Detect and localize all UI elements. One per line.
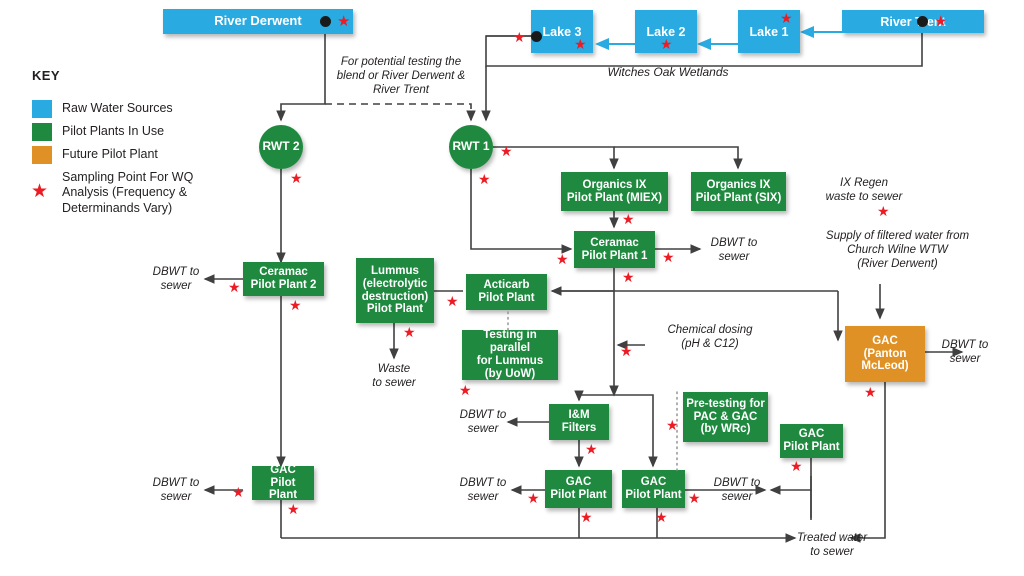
sampling-star-river-trent: ★ — [934, 14, 947, 29]
sampling-star-acticarb-out: ★ — [446, 294, 459, 308]
sampling-star-ceramac2-down: ★ — [289, 298, 302, 312]
sampling-star-river-derwent: ★ — [337, 14, 350, 29]
annotation-chemical-dosing: Chemical dosing (pH & C12) — [650, 323, 770, 351]
node-gac-pilot-plant-right[interactable]: GAC Pilot Plant — [780, 424, 843, 458]
node-organics-ix-six[interactable]: Organics IX Pilot Plant (SIX) — [691, 172, 786, 211]
legend-swatch-raw-water — [32, 100, 52, 118]
node-gac-pilot-plant-mid-left-label: GAC Pilot Plant — [547, 476, 609, 502]
sampling-star-gac-midright-down: ★ — [655, 510, 668, 524]
legend-title: KEY — [32, 68, 60, 83]
node-gac-panton-mcleod[interactable]: GAC (Panton McLeod) — [845, 326, 925, 382]
annotation-dbwt-gac-left: DBWT to sewer — [145, 476, 207, 504]
sampling-star-rwt-1-right: ★ — [500, 144, 513, 158]
node-gac-pilot-plant-mid-right-label: GAC Pilot Plant — [622, 476, 684, 502]
node-rwt-2-label: RWT 2 — [259, 140, 302, 153]
node-ceramac-pilot-plant-2-label: Ceramac Pilot Plant 2 — [248, 266, 320, 292]
annotation-church-wilne-supply: Supply of filtered water from Church Wil… — [810, 229, 985, 271]
sampling-star-testing-lummus: ★ — [459, 383, 472, 397]
annotation-dbwt-gac-mid-right: DBWT to sewer — [706, 476, 768, 504]
node-gac-panton-mcleod-label: GAC (Panton McLeod) — [858, 335, 911, 374]
node-acticarb-pilot-plant-label: Acticarb Pilot Plant — [475, 279, 537, 305]
sampling-star-gac-midright-out: ★ — [688, 491, 701, 505]
sampling-star-ceramac1-in: ★ — [556, 252, 569, 266]
tap-point-river-derwent — [320, 16, 331, 27]
sampling-star-im-filters-out: ★ — [585, 442, 598, 456]
legend-label-raw-water: Raw Water Sources — [62, 101, 173, 116]
node-im-filters-label: I&M Filters — [559, 409, 600, 435]
annotation-dbwt-gac-mid-left: DBWT to sewer — [452, 476, 514, 504]
node-river-trent[interactable]: River Trent — [842, 10, 984, 33]
node-rwt-1-label: RWT 1 — [449, 140, 492, 153]
legend-swatch-future-pilot — [32, 146, 52, 164]
annotation-witches-oak-wetlands: Witches Oak Wetlands — [588, 65, 748, 80]
tap-point-lake-3 — [531, 31, 542, 42]
annotation-ix-regen-waste: IX Regen waste to sewer — [816, 176, 912, 204]
node-lake-1-label: Lake 1 — [747, 25, 792, 39]
sampling-star-lake-3: ★ — [574, 37, 587, 51]
node-gac-pilot-plant-right-label: GAC Pilot Plant — [780, 428, 842, 454]
sampling-star-panton-down: ★ — [864, 385, 877, 399]
node-testing-in-parallel-lummus[interactable]: Testing in parallel for Lummus (by UoW) — [462, 330, 558, 380]
annotation-waste-to-sewer: Waste to sewer — [362, 362, 426, 390]
annotation-blend-note: For potential testing the blend or River… — [334, 55, 468, 97]
sampling-star-gac-left-out: ★ — [232, 485, 245, 499]
node-acticarb-pilot-plant[interactable]: Acticarb Pilot Plant — [466, 274, 547, 310]
sampling-star-gac-left-down: ★ — [287, 502, 300, 516]
node-rwt-1[interactable]: RWT 1 — [449, 125, 493, 169]
node-pretesting-pac-gac[interactable]: Pre-testing for PAC & GAC (by WRc) — [683, 392, 768, 442]
sampling-star-rwt-1-below: ★ — [478, 172, 491, 186]
sampling-star-ix-regen: ★ — [877, 204, 890, 218]
node-organics-ix-miex-label: Organics IX Pilot Plant (MIEX) — [564, 179, 665, 205]
sampling-star-ceramac1-down: ★ — [622, 270, 635, 284]
annotation-treated-water-to-sewer: Treated water to sewer — [780, 531, 884, 559]
tap-point-river-trent — [917, 16, 928, 27]
annotation-dbwt-panton: DBWT to sewer — [934, 338, 996, 366]
node-ceramac-pilot-plant-1-label: Ceramac Pilot Plant 1 — [579, 237, 651, 263]
node-rwt-2[interactable]: RWT 2 — [259, 125, 303, 169]
flow-diagram: KEY Raw Water Sources Pilot Plants In Us… — [0, 0, 1024, 576]
annotation-dbwt-im-filters: DBWT to sewer — [452, 408, 514, 436]
node-river-derwent-label: River Derwent — [211, 14, 304, 29]
node-ceramac-pilot-plant-2[interactable]: Ceramac Pilot Plant 2 — [243, 262, 324, 296]
legend-label-sampling-point: Sampling Point For WQ Analysis (Frequenc… — [62, 170, 207, 216]
node-gac-pilot-plant-left[interactable]: GAC Pilot Plant — [252, 466, 314, 500]
node-organics-ix-miex[interactable]: Organics IX Pilot Plant (MIEX) — [561, 172, 668, 211]
node-pretesting-pac-gac-label: Pre-testing for PAC & GAC (by WRc) — [683, 398, 768, 437]
node-lummus-pilot-plant[interactable]: Lummus (electrolytic destruction) Pilot … — [356, 258, 434, 323]
node-organics-ix-six-label: Organics IX Pilot Plant (SIX) — [693, 179, 785, 205]
node-ceramac-pilot-plant-1[interactable]: Ceramac Pilot Plant 1 — [574, 231, 655, 268]
node-gac-pilot-plant-mid-left[interactable]: GAC Pilot Plant — [545, 470, 612, 508]
sampling-star-lake-2: ★ — [660, 37, 673, 51]
sampling-star-lummus-out: ★ — [403, 325, 416, 339]
annotation-dbwt-ceramac-1: DBWT to sewer — [702, 236, 766, 264]
sampling-star-gac-right-down: ★ — [790, 459, 803, 473]
node-lummus-pilot-plant-label: Lummus (electrolytic destruction) Pilot … — [359, 265, 431, 317]
sampling-star-lake-3-left: ★ — [513, 30, 526, 44]
sampling-star-miex-out: ★ — [622, 212, 635, 226]
legend-label-pilot-in-use: Pilot Plants In Use — [62, 124, 164, 139]
node-gac-pilot-plant-mid-right[interactable]: GAC Pilot Plant — [622, 470, 685, 508]
sampling-star-lake-1: ★ — [780, 11, 793, 25]
sampling-star-rwt-2: ★ — [290, 171, 303, 185]
annotation-dbwt-ceramac-2: DBWT to sewer — [145, 265, 207, 293]
node-testing-in-parallel-lummus-label: Testing in parallel for Lummus (by UoW) — [462, 329, 558, 381]
legend-swatch-pilot-in-use — [32, 123, 52, 141]
sampling-star-pretesting: ★ — [666, 418, 679, 432]
legend-label-future-pilot: Future Pilot Plant — [62, 147, 158, 162]
sampling-star-gac-midleft-down: ★ — [580, 510, 593, 524]
node-im-filters[interactable]: I&M Filters — [549, 404, 609, 440]
legend-star-icon: ★ — [31, 182, 48, 201]
sampling-star-gac-midleft-out: ★ — [527, 491, 540, 505]
sampling-star-ceramac1-out: ★ — [662, 250, 675, 264]
node-gac-pilot-plant-left-label: GAC Pilot Plant — [252, 464, 314, 503]
sampling-star-ceramac2-out: ★ — [228, 280, 241, 294]
sampling-star-chemical-dosing: ★ — [620, 344, 633, 358]
